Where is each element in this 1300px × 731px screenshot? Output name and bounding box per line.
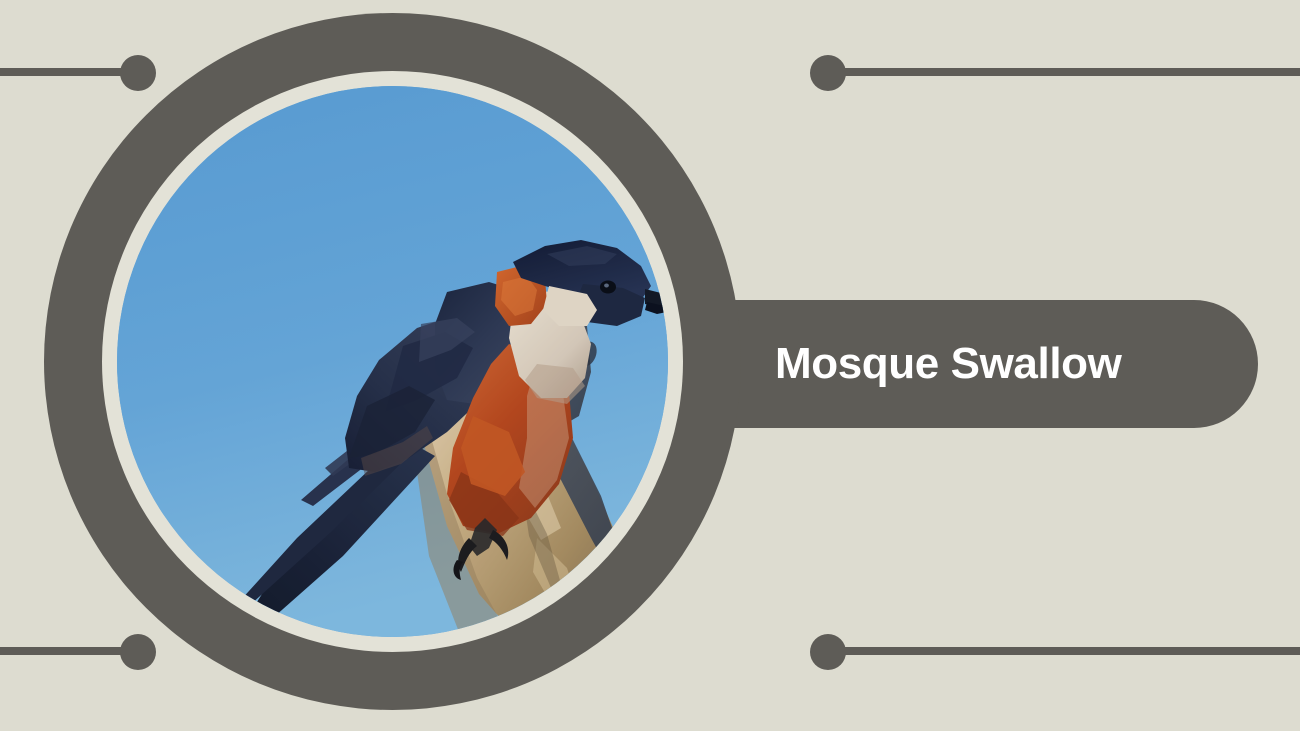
decoration-line-bottom-right <box>840 647 1300 655</box>
photo-frame-ring <box>44 13 741 710</box>
decoration-line-bottom-left <box>0 647 138 655</box>
page-title: Mosque Swallow <box>775 342 1121 386</box>
bird-photo-artwork <box>117 86 668 637</box>
decoration-dot-top-left <box>120 55 156 91</box>
poster-canvas: Mosque Swallow <box>0 0 1300 731</box>
decoration-dot-bottom-left <box>120 634 156 670</box>
bird-photo <box>117 86 668 637</box>
decoration-line-top-left <box>0 68 138 76</box>
photo-frame-inner-gap <box>102 71 683 652</box>
decoration-line-top-right <box>840 68 1300 76</box>
